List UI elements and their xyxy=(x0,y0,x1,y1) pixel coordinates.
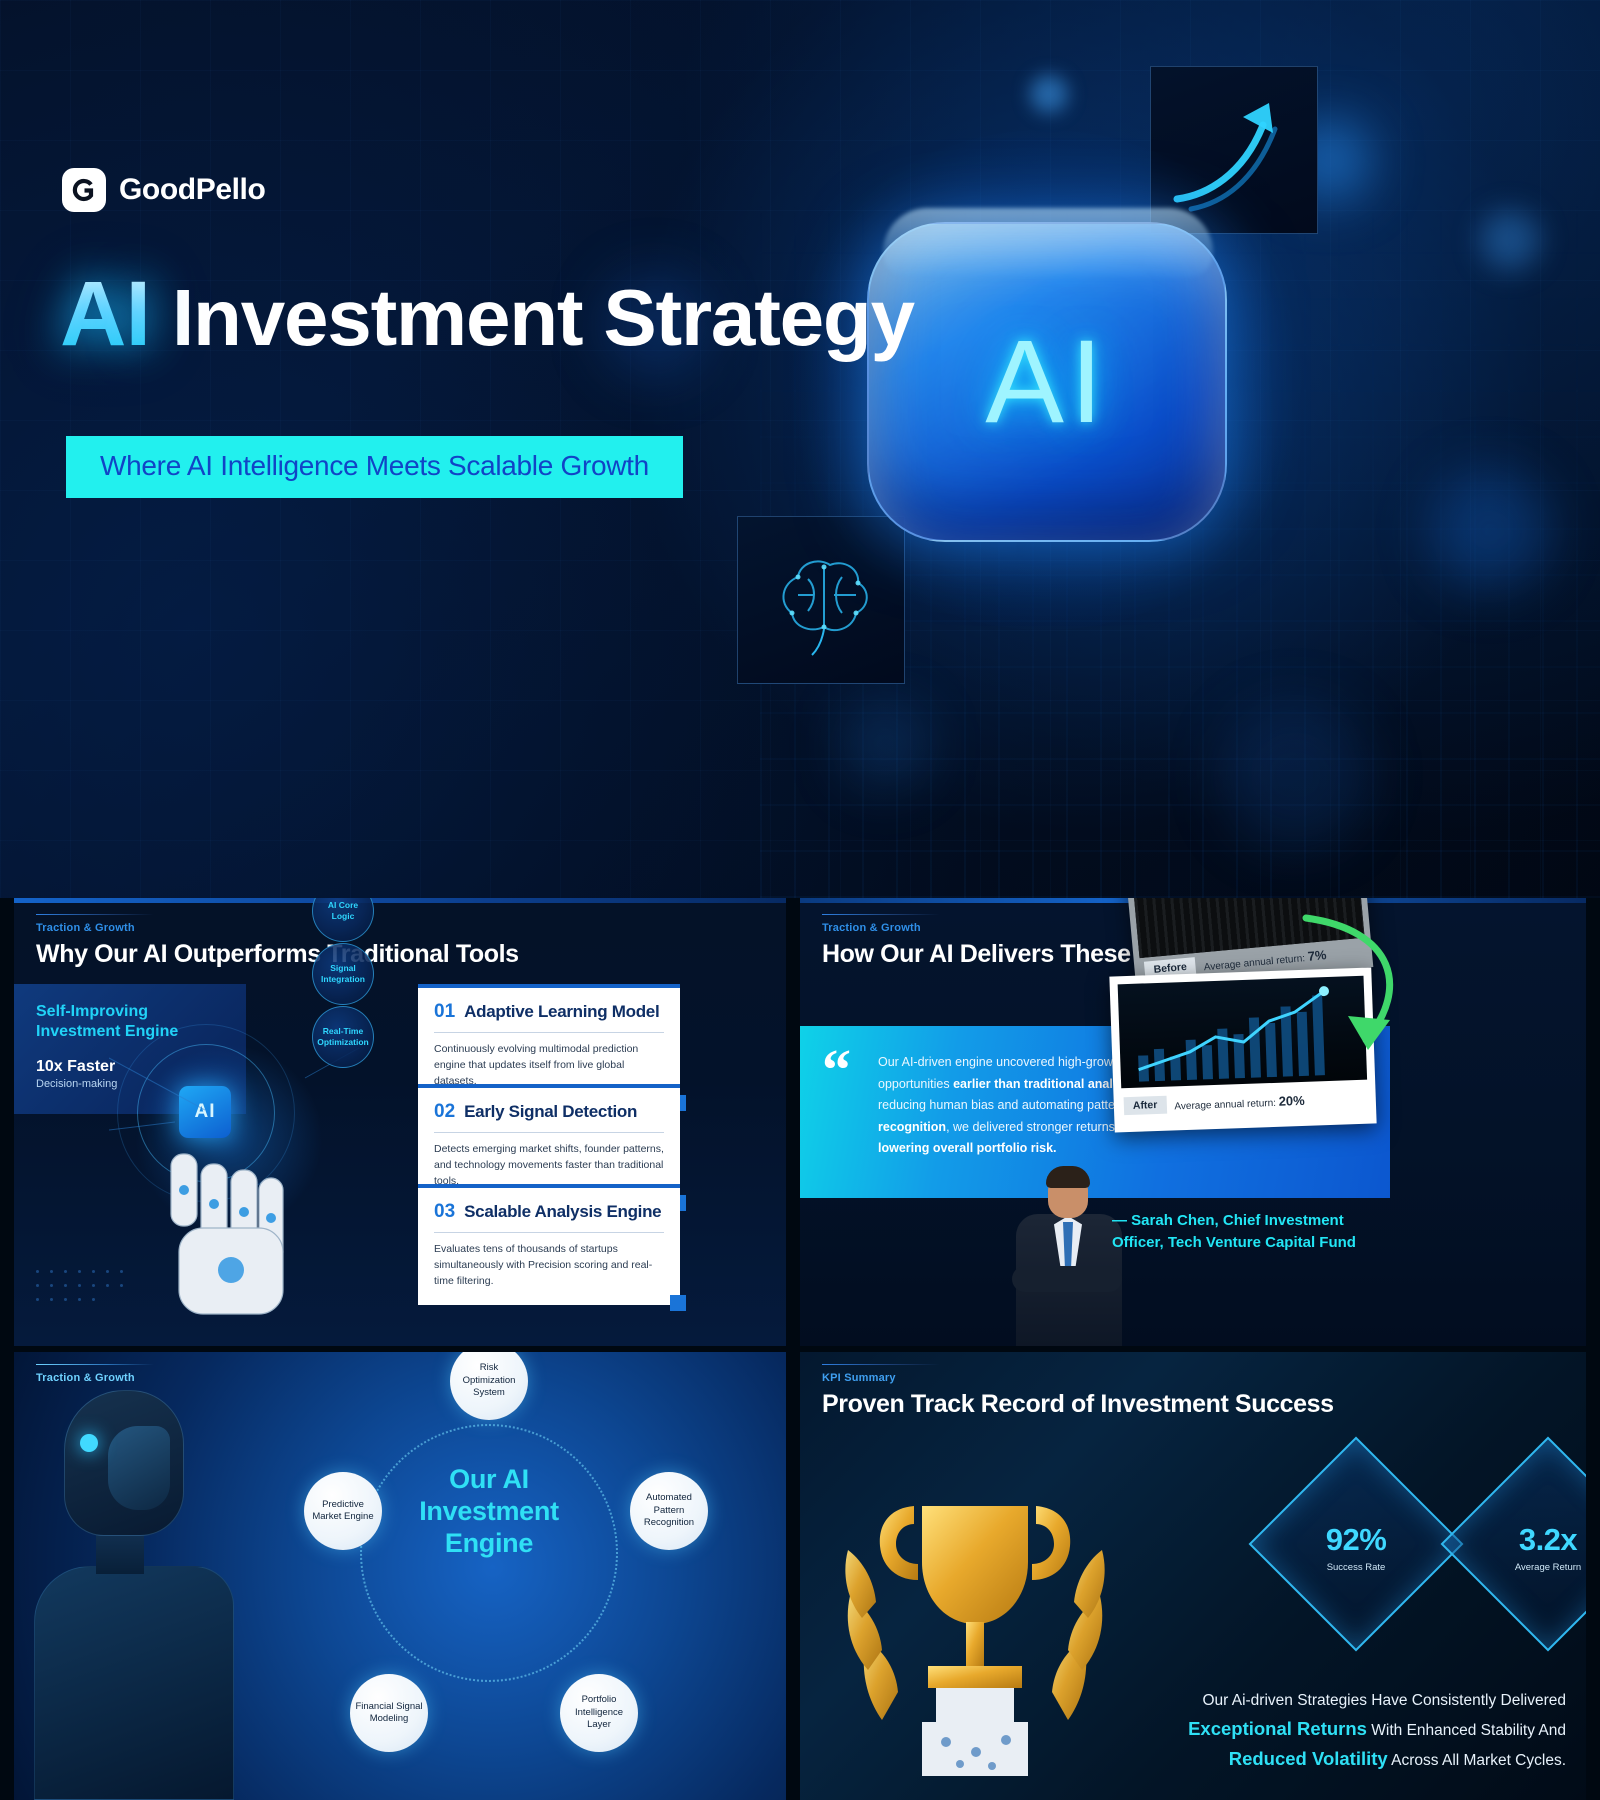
robot-neck xyxy=(96,1530,144,1574)
after-tag: After xyxy=(1124,1096,1167,1115)
before-value: 7% xyxy=(1307,947,1327,964)
card-number: 03 xyxy=(434,1201,455,1223)
kpi-inner: 92% Success Rate xyxy=(1280,1471,1432,1623)
card-title: Scalable Analysis Engine xyxy=(464,1202,661,1222)
panel-accent-bar xyxy=(14,898,786,903)
brand-logo: GoodPello xyxy=(62,168,265,212)
slide-why-our-ai-outperforms[interactable]: Traction & Growth Why Our AI Outperforms… xyxy=(14,898,786,1346)
kpi-label: Success Rate xyxy=(1327,1561,1386,1572)
eyebrow-rule xyxy=(36,1364,154,1365)
hero-slide: AI GoodPello AI Investment Strategy Wher… xyxy=(0,0,1600,898)
kpi-inner: 3.2x Average Return xyxy=(1472,1471,1586,1623)
card-heading: 01 Adaptive Learning Model xyxy=(418,988,680,1032)
bubble-financial-signal-modeling[interactable]: Financial Signal Modeling xyxy=(350,1674,428,1752)
after-caption-text: Average annual return: xyxy=(1174,1097,1276,1112)
title-accent: AI xyxy=(60,262,150,367)
ai-cube-graphic: AI xyxy=(845,200,1245,560)
panel-header: Traction & Growth Why Our AI Outperforms… xyxy=(36,914,519,969)
speaker-arms xyxy=(1012,1266,1122,1292)
card-number: 02 xyxy=(434,1101,455,1123)
card-heading: 02 Early Signal Detection xyxy=(418,1088,680,1132)
kpi-diamond-average-return[interactable]: 3.2x Average Return xyxy=(1441,1437,1586,1652)
cube-body: AI xyxy=(867,222,1227,542)
robot-eye-glow xyxy=(80,1434,98,1452)
kpi-summary-footer: Our Ai-driven Strategies Have Consistent… xyxy=(970,1688,1566,1774)
card-number: 01 xyxy=(434,1001,455,1023)
logo-text: GoodPello xyxy=(119,173,265,207)
card-title: Adaptive Learning Model xyxy=(464,1002,659,1022)
panel-title: Why Our AI Outperforms Traditional Tools xyxy=(36,940,519,969)
after-value: 20% xyxy=(1278,1092,1305,1108)
engine-center-title: Our AI Investment Engine xyxy=(384,1464,594,1560)
feature-card-03[interactable]: 03 Scalable Analysis Engine Evaluates te… xyxy=(418,1184,680,1305)
footer-highlight-2: Reduced Volatility xyxy=(1229,1748,1388,1769)
presentation-deck: AI GoodPello AI Investment Strategy Wher… xyxy=(0,0,1600,1800)
bokeh-light xyxy=(1480,210,1540,270)
speaker-hair xyxy=(1046,1166,1090,1188)
quote-emphasis: lowering overall portfolio risk. xyxy=(878,1141,1057,1155)
footer-line-3: Across All Market Cycles. xyxy=(1388,1752,1566,1769)
after-screenshot: After Average annual return: 20% xyxy=(1109,967,1376,1132)
bokeh-light xyxy=(1030,75,1068,113)
card-body: Evaluates tens of thousands of startups … xyxy=(418,1233,680,1305)
slide-proven-track-record[interactable]: KPI Summary Proven Track Record of Inves… xyxy=(800,1352,1586,1800)
footer-highlight-1: Exceptional Returns xyxy=(1188,1718,1367,1739)
decor-dot-grid xyxy=(36,1270,156,1316)
after-caption: Average annual return: 20% xyxy=(1174,1092,1305,1112)
bubble-risk-optimization-system[interactable]: Risk Optimization System xyxy=(450,1352,528,1420)
slide-thumbnail-grid: Traction & Growth Why Our AI Outperforms… xyxy=(0,898,1600,1800)
title-rest: Investment Strategy xyxy=(172,272,914,364)
eyebrow-rule xyxy=(822,914,940,915)
bubble-predictive-market-engine[interactable]: Predictive Market Engine xyxy=(304,1472,382,1550)
card-heading: 03 Scalable Analysis Engine xyxy=(418,1188,680,1232)
bokeh-light xyxy=(840,700,930,790)
bokeh-light xyxy=(1430,470,1550,590)
slide-how-our-ai-delivers[interactable]: Traction & Growth How Our AI Delivers Th… xyxy=(800,898,1586,1346)
quote-mark-icon: “ xyxy=(822,1050,851,1091)
slide-ai-investment-engine[interactable]: Traction & Growth Our AI Investment Engi… xyxy=(14,1352,786,1800)
panel-header: KPI Summary Proven Track Record of Inves… xyxy=(822,1364,1334,1419)
panel-eyebrow: Traction & Growth xyxy=(36,922,519,934)
kpi-value: 92% xyxy=(1326,1521,1387,1557)
kpi-value: 3.2x xyxy=(1519,1521,1577,1557)
quote-attribution: — Sarah Chen, Chief Investment Officer, … xyxy=(1112,1210,1380,1254)
panel-title: Proven Track Record of Investment Succes… xyxy=(822,1390,1334,1419)
bubble-automated-pattern-recognition[interactable]: Automated Pattern Recognition xyxy=(630,1472,708,1550)
card-corner-tab xyxy=(670,1295,686,1311)
bokeh-light xyxy=(1220,700,1370,850)
quote-emphasis: recognition xyxy=(878,1120,946,1134)
panel-eyebrow: KPI Summary xyxy=(822,1372,1334,1384)
hero-subtitle-banner: Where AI Intelligence Meets Scalable Gro… xyxy=(66,436,683,498)
eyebrow-rule xyxy=(822,1364,940,1365)
robot-body xyxy=(34,1566,234,1800)
speaker-photo xyxy=(1010,1170,1128,1346)
card-title: Early Signal Detection xyxy=(464,1102,637,1122)
goodpello-g-mark-icon xyxy=(62,168,106,212)
after-chart-image xyxy=(1118,976,1367,1089)
cube-ai-label: AI xyxy=(869,224,1225,540)
page-title: AI Investment Strategy xyxy=(60,262,914,367)
bubble-portfolio-intelligence-layer[interactable]: Portfolio Intelligence Layer xyxy=(560,1674,638,1752)
kpi-diamond-success-rate[interactable]: 92% Success Rate xyxy=(1249,1437,1464,1652)
growth-chart-icon xyxy=(1118,976,1367,1089)
humanoid-robot-icon xyxy=(24,1370,264,1800)
footer-line-2: With Enhanced Stability And xyxy=(1367,1722,1566,1739)
node-real-time-optimization[interactable]: Real-Time Optimization xyxy=(312,1006,374,1068)
robot-face xyxy=(108,1426,170,1510)
footer-line-1: Our Ai-driven Strategies Have Consistent… xyxy=(1202,1692,1566,1709)
node-signal-integration[interactable]: Signal Integration xyxy=(312,943,374,1005)
eyebrow-rule xyxy=(36,914,154,915)
kpi-label: Average Return xyxy=(1515,1561,1581,1572)
